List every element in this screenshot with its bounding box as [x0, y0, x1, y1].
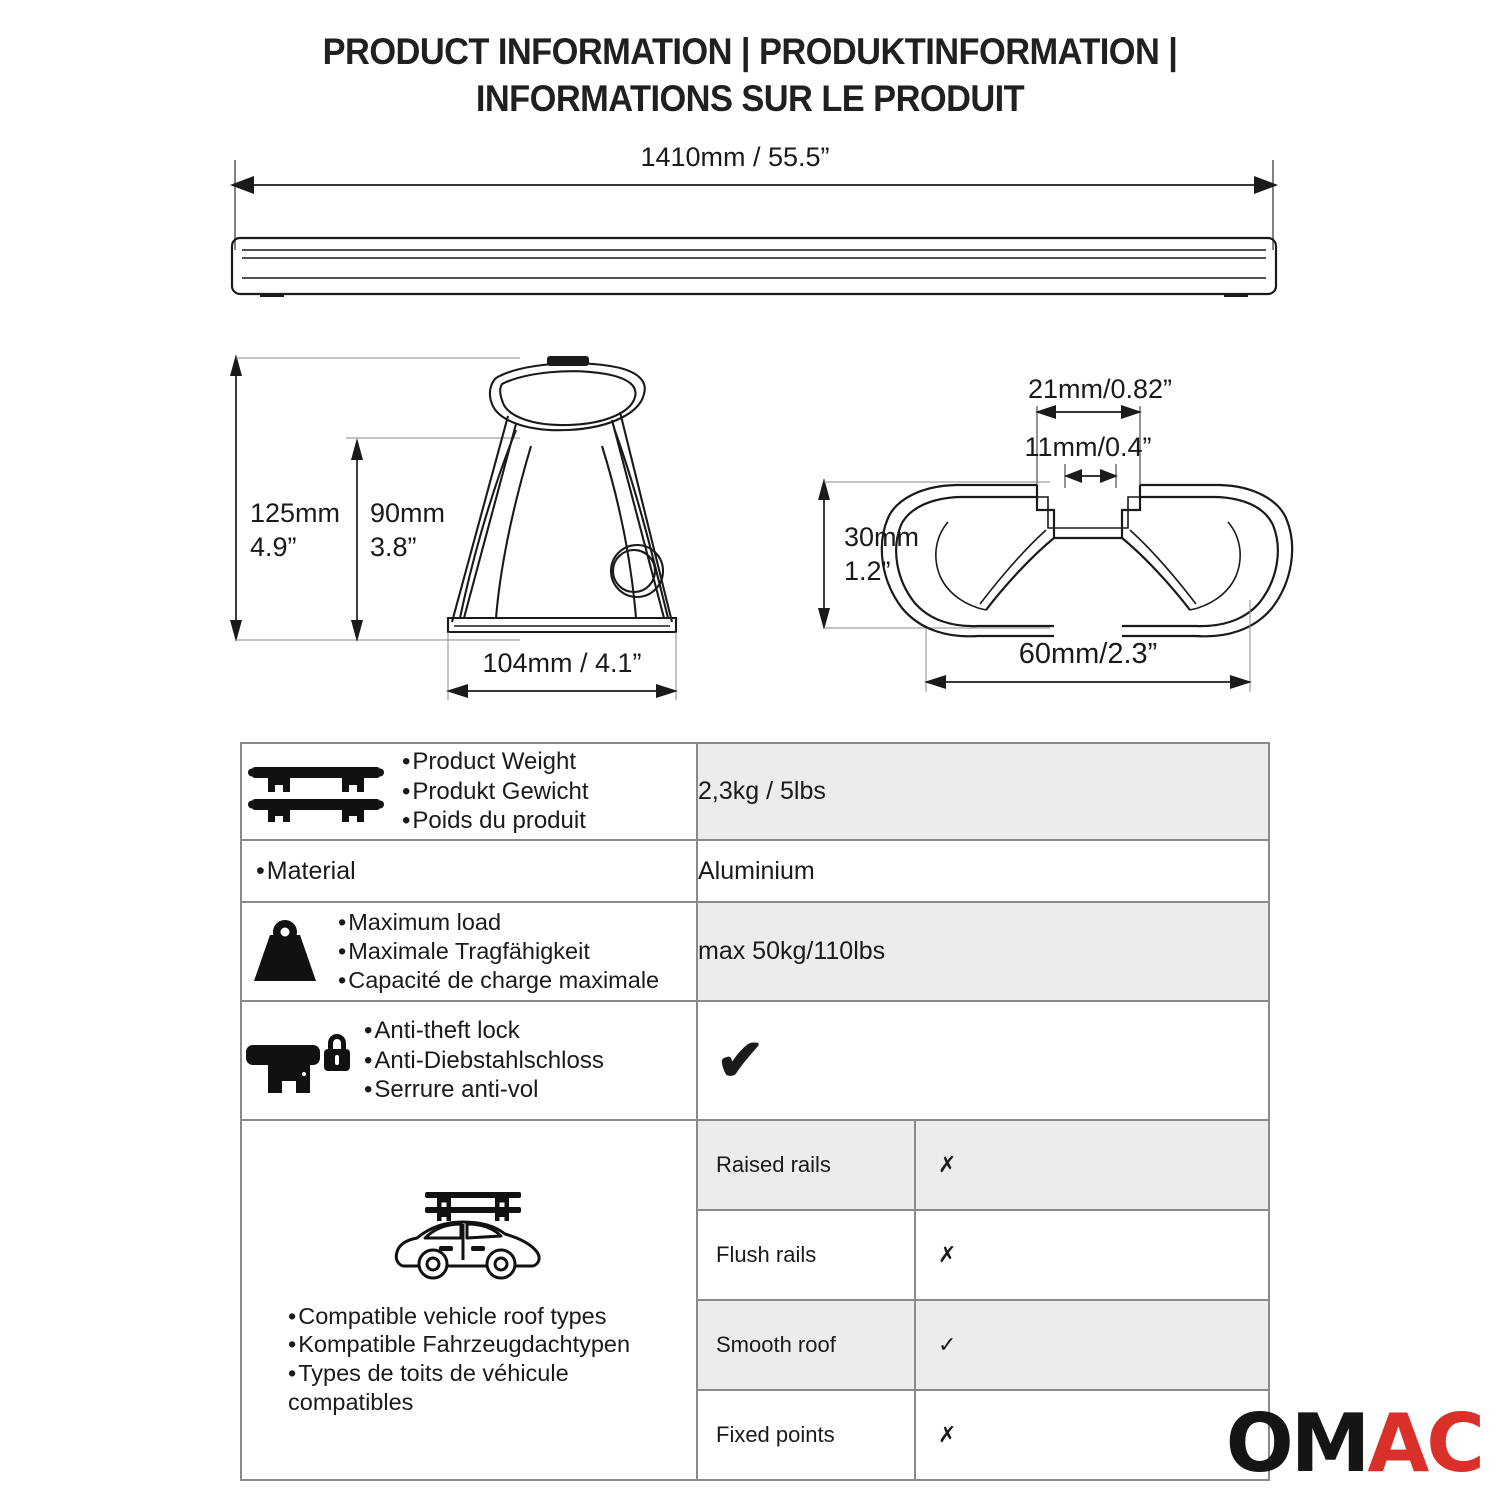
foot-inner-height-label-line2: 3.8” — [370, 532, 417, 562]
bullet-lock-fr: Serrure anti-vol — [364, 1075, 604, 1105]
product-information-sheet: PRODUCT INFORMATION | PRODUKTINFORMATION… — [0, 0, 1500, 1500]
table-row-anti-theft-lock: Anti-theft lock Anti-Diebstahlschloss Se… — [241, 1001, 1269, 1120]
car-with-roof-bars-icon — [242, 1184, 696, 1292]
foot-total-height-label-line2: 4.9” — [250, 532, 297, 562]
bar-cross-section-icon — [882, 485, 1292, 636]
roof-rack-foot-icon — [448, 356, 676, 632]
bullet-max-load-en: Maximum load — [338, 908, 659, 937]
bullet-roof-types-de: Kompatible Fahrzeugdachtypen — [288, 1330, 696, 1359]
foot-total-height-label-line1: 125mm — [250, 498, 340, 528]
roof-type-name-smooth-roof: Smooth roof — [698, 1300, 915, 1390]
material-label-cell: Material — [241, 840, 697, 902]
logo-text-red: AC — [1367, 1397, 1482, 1490]
bullet-product-weight-de: Produkt Gewicht — [402, 777, 588, 807]
roof-type-mark-fixed-points: ✗ — [915, 1390, 1268, 1479]
roof-type-name-fixed-points: Fixed points — [698, 1390, 915, 1479]
bullet-lock-de: Anti-Diebstahlschloss — [364, 1046, 604, 1076]
table-row-product-weight: Product Weight Produkt Gewicht Poids du … — [241, 743, 1269, 840]
roof-type-mark-flush-rails: ✗ — [915, 1210, 1268, 1300]
table-row-roof-types: Compatible vehicle roof types Kompatible… — [241, 1120, 1269, 1480]
table-row-material: Material Aluminium — [241, 840, 1269, 902]
roof-type-mark-smooth-roof: ✓ — [915, 1300, 1268, 1390]
weight-label-cell: Product Weight Produkt Gewicht Poids du … — [241, 743, 697, 840]
profile-overall-width-label: 60mm/2.3” — [1019, 638, 1158, 670]
lock-bullets: Anti-theft lock Anti-Diebstahlschloss Se… — [364, 1016, 604, 1105]
weight-bullets: Product Weight Produkt Gewicht Poids du … — [402, 747, 588, 836]
profile-slot-width-label: 11mm/0.4” — [1024, 432, 1151, 462]
bar-length-label: 1410mm / 55.5” — [640, 142, 829, 172]
roof-types-label-cell: Compatible vehicle roof types Kompatible… — [241, 1120, 697, 1480]
bullet-max-load-fr: Capacité de charge maximale — [338, 966, 659, 995]
bullet-material: Material — [242, 857, 696, 886]
two-crossbars-icon — [242, 761, 392, 823]
max-load-value-cell: max 50kg/110lbs — [697, 902, 1269, 1001]
roof-type-name-raised-rails: Raised rails — [698, 1121, 915, 1210]
roof-type-mark-raised-rails: ✗ — [915, 1121, 1268, 1210]
logo-text-dark: OM — [1226, 1397, 1368, 1490]
foot-dimension-diagram: 125mm 4.9” 90mm 3.8” — [220, 350, 710, 720]
table-row-maximum-load: Maximum load Maximale Tragfähigkeit Capa… — [241, 902, 1269, 1001]
profile-top-width-label: 21mm/0.82” — [1028, 374, 1172, 404]
weight-icon — [242, 919, 328, 985]
roof-types-bullets: Compatible vehicle roof types Kompatible… — [242, 1302, 696, 1417]
omac-logo: OMAC — [1226, 1404, 1482, 1484]
roof-types-table: Raised rails ✗ Flush rails ✗ Smooth roof… — [698, 1121, 1268, 1479]
bar-length-diagram: 1410mm / 55.5” — [220, 130, 1290, 320]
bullet-product-weight-en: Product Weight — [402, 747, 588, 777]
page-title-line-1: PRODUCT INFORMATION | PRODUKTINFORMATION… — [323, 31, 1178, 72]
lock-icon — [242, 1023, 354, 1099]
weight-value-cell: 2,3kg / 5lbs — [697, 743, 1269, 840]
checkmark-icon: ✔ — [698, 1032, 1268, 1090]
roof-types-options-cell: Raised rails ✗ Flush rails ✗ Smooth roof… — [697, 1120, 1269, 1480]
specification-table: Product Weight Produkt Gewicht Poids du … — [240, 742, 1270, 1481]
roof-type-row-flush-rails: Flush rails ✗ — [698, 1210, 1268, 1300]
bullet-roof-types-en: Compatible vehicle roof types — [288, 1302, 696, 1331]
page-title-line-2: INFORMATIONS SUR LE PRODUIT — [53, 75, 1448, 122]
roof-type-name-flush-rails: Flush rails — [698, 1210, 915, 1300]
roof-bar-top-view-icon — [232, 238, 1276, 294]
bar-profile-diagram: 21mm/0.82” 11mm/0.4” 30mm 1.2” — [810, 360, 1300, 710]
roof-type-row-smooth-roof: Smooth roof ✓ — [698, 1300, 1268, 1390]
roof-type-row-raised-rails: Raised rails ✗ — [698, 1121, 1268, 1210]
page-title: PRODUCT INFORMATION | PRODUKTINFORMATION… — [53, 28, 1448, 123]
bullet-lock-en: Anti-theft lock — [364, 1016, 604, 1046]
foot-inner-height-label-line1: 90mm — [370, 498, 445, 528]
foot-width-label: 104mm / 4.1” — [482, 648, 641, 678]
lock-label-cell: Anti-theft lock Anti-Diebstahlschloss Se… — [241, 1001, 697, 1120]
roof-type-row-fixed-points: Fixed points ✗ — [698, 1390, 1268, 1479]
lock-value-cell: ✔ — [697, 1001, 1269, 1120]
material-value-cell: Aluminium — [697, 840, 1269, 902]
bullet-product-weight-fr: Poids du produit — [402, 806, 588, 836]
bullet-roof-types-fr: Types de toits de véhicule compatibles — [288, 1359, 696, 1416]
bullet-max-load-de: Maximale Tragfähigkeit — [338, 937, 659, 966]
max-load-label-cell: Maximum load Maximale Tragfähigkeit Capa… — [241, 902, 697, 1001]
max-load-bullets: Maximum load Maximale Tragfähigkeit Capa… — [338, 908, 659, 995]
